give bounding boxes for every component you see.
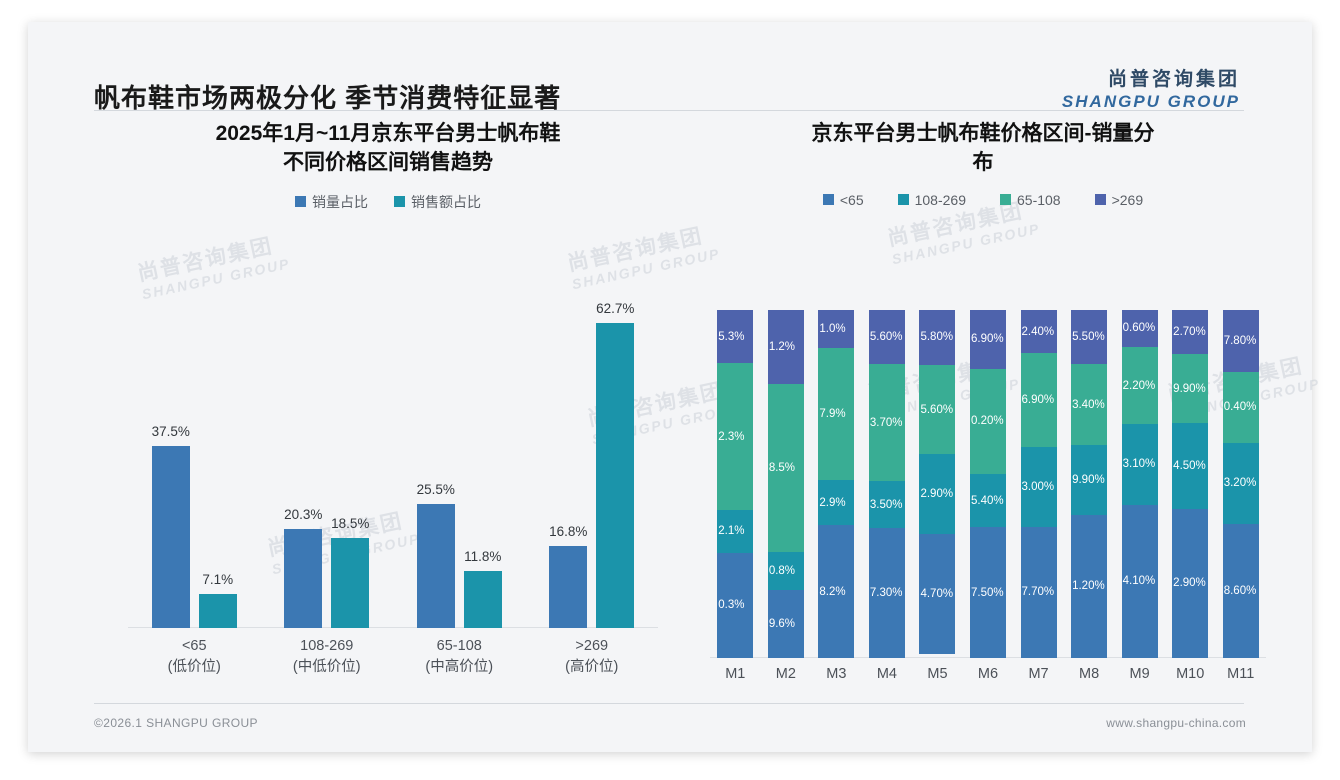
category-tier: (中高价位) — [393, 657, 526, 678]
x-axis-month-label: M11 — [1223, 666, 1259, 682]
segment-value-label: 1.0% — [819, 323, 845, 335]
stack-segment[interactable]: 2.70% — [1172, 310, 1208, 354]
right-chart-title: 京东平台男士帆布鞋价格区间-销量分 布 — [688, 120, 1278, 178]
segment-value-label: 5.3% — [718, 331, 744, 343]
segment-value-label: 2.90% — [1173, 577, 1206, 589]
segment-value-label: 7.9% — [819, 408, 845, 420]
x-axis-month-label: M3 — [818, 666, 854, 682]
legend-swatch-icon — [898, 194, 909, 205]
x-axis-month-label: M2 — [768, 666, 804, 682]
stacked-bar-plot: 5.3%2.3%2.1%0.3%M11.2%8.5%0.8%9.6%M21.0%… — [710, 310, 1266, 658]
segment-value-label: 3.20% — [1224, 477, 1257, 489]
segment-value-label: 1.20% — [1072, 580, 1105, 592]
stacked-column[interactable]: 1.0%7.9%2.9%8.2% — [818, 310, 854, 658]
stack-segment[interactable]: 3.50% — [869, 481, 905, 528]
stack-segment[interactable]: 3.70% — [869, 364, 905, 481]
legend-item-108-269[interactable]: 108-269 — [898, 192, 966, 208]
logo-text-en: SHANGPU GROUP — [1062, 92, 1240, 112]
segment-value-label: 7.70% — [1022, 586, 1055, 598]
chart-panel-right: 京东平台男士帆布鞋价格区间-销量分 布 <65 108-269 65-108 >… — [688, 120, 1278, 700]
legend-swatch-icon — [295, 196, 306, 207]
stack-segment[interactable]: 0.60% — [1122, 310, 1158, 347]
segment-value-label: 0.60% — [1123, 322, 1156, 334]
stacked-column[interactable]: 0.60%2.20%3.10%4.10% — [1122, 310, 1158, 658]
bar-value-label: 7.1% — [202, 572, 233, 587]
segment-value-label: 5.60% — [870, 331, 903, 343]
stack-segment[interactable]: 7.80% — [1223, 310, 1259, 372]
segment-value-label: 5.40% — [971, 495, 1004, 507]
category-range: 108-269 — [261, 636, 394, 657]
bar-value-label: 62.7% — [596, 301, 634, 316]
bar-amount[interactable]: 62.7% — [596, 323, 634, 628]
bar-fill — [152, 446, 190, 628]
stack-segment[interactable]: 4.10% — [1122, 505, 1158, 658]
segment-value-label: 6.90% — [971, 333, 1004, 345]
bar-value-label: 25.5% — [417, 482, 455, 497]
category-tier: (低价位) — [128, 657, 261, 678]
bar-amount[interactable]: 11.8% — [464, 571, 502, 628]
legend-label: 65-108 — [1017, 192, 1061, 208]
stack-segment[interactable]: 3.40% — [1071, 364, 1107, 445]
stack-segment[interactable]: 7.50% — [970, 527, 1006, 658]
legend-swatch-icon — [394, 196, 405, 207]
x-axis-month-label: M7 — [1021, 666, 1057, 682]
legend-item-under-65[interactable]: <65 — [823, 192, 864, 208]
stack-segment[interactable]: 2.3% — [717, 363, 753, 510]
segment-value-label: 3.70% — [870, 417, 903, 429]
stack-segment[interactable]: 5.3% — [717, 310, 753, 363]
stacked-column[interactable]: 5.60%3.70%3.50%7.30% — [869, 310, 905, 658]
category-tier: (高价位) — [526, 657, 659, 678]
stack-segment[interactable]: 4.70% — [919, 534, 955, 655]
x-axis-month-label: M5 — [919, 666, 955, 682]
slide-canvas: 尚普咨询集团 SHANGPU GROUP 尚普咨询集团 SHANGPU GROU… — [28, 22, 1312, 752]
logo-text-cn: 尚普咨询集团 — [1062, 64, 1240, 91]
bar-volume[interactable]: 25.5% — [417, 504, 455, 628]
segment-value-label: 3.10% — [1123, 458, 1156, 470]
bar-fill — [549, 546, 587, 628]
footer-copyright: ©2026.1 SHANGPU GROUP — [94, 716, 258, 730]
left-chart-legend: 销量占比 销售额占比 — [88, 192, 688, 212]
x-axis-month-label: M1 — [717, 666, 753, 682]
segment-value-label: 2.3% — [718, 431, 744, 443]
segment-value-label: 9.90% — [1072, 474, 1105, 486]
category-tier: (中低价位) — [261, 657, 394, 678]
bar-value-label: 18.5% — [331, 516, 369, 531]
bar-group: 25.5%11.8% — [393, 288, 526, 628]
segment-value-label: 0.20% — [971, 415, 1004, 427]
stack-segment[interactable]: 2.40% — [1021, 310, 1057, 353]
x-axis-month-label: M9 — [1122, 666, 1158, 682]
bar-fill — [199, 594, 237, 628]
stack-segment[interactable]: 6.90% — [970, 310, 1006, 369]
stack-segment[interactable]: 3.20% — [1223, 443, 1259, 524]
segment-value-label: 0.40% — [1224, 401, 1257, 413]
bar-value-label: 16.8% — [549, 524, 587, 539]
left-chart-title-line2: 不同价格区间销售趋势 — [112, 149, 664, 178]
bar-group: 37.5%7.1% — [128, 288, 261, 628]
bar-amount[interactable]: 18.5% — [331, 538, 369, 628]
stack-segment[interactable]: 1.2% — [768, 310, 804, 384]
header-divider — [94, 110, 1244, 111]
segment-value-label: 2.1% — [718, 525, 744, 537]
stack-segment[interactable]: 2.90% — [1172, 509, 1208, 658]
stacked-column[interactable]: 2.70%9.90%4.50%2.90% — [1172, 310, 1208, 658]
segment-value-label: 0.3% — [718, 599, 744, 611]
right-chart-title-line1: 京东平台男士帆布鞋价格区间-销量分 — [712, 120, 1254, 149]
bar-volume[interactable]: 20.3% — [284, 529, 322, 628]
stack-segment[interactable]: 8.5% — [768, 384, 804, 553]
stack-segment[interactable]: 4.50% — [1172, 423, 1208, 508]
segment-value-label: 9.90% — [1173, 383, 1206, 395]
stack-segment[interactable]: 5.60% — [919, 365, 955, 454]
x-axis-month-label: M8 — [1071, 666, 1107, 682]
legend-label: 108-269 — [915, 192, 966, 208]
stack-segment[interactable]: 9.90% — [1172, 354, 1208, 423]
stacked-column[interactable]: 7.80%0.40%3.20%8.60% — [1223, 310, 1259, 658]
left-chart-title-line1: 2025年1月~11月京东平台男士帆布鞋 — [112, 120, 664, 149]
bar-volume[interactable]: 37.5% — [152, 446, 190, 628]
legend-item-65-108[interactable]: 65-108 — [1000, 192, 1061, 208]
stack-segment[interactable]: 1.0% — [818, 310, 854, 348]
left-chart-title: 2025年1月~11月京东平台男士帆布鞋 不同价格区间销售趋势 — [88, 120, 688, 178]
segment-value-label: 3.40% — [1072, 399, 1105, 411]
legend-item-over-269[interactable]: >269 — [1095, 192, 1144, 208]
segment-value-label: 7.80% — [1224, 335, 1257, 347]
slide-header: 帆布鞋市场两极分化 季节消费特征显著 尚普咨询集团 SHANGPU GROUP — [28, 22, 1312, 114]
bar-group: 20.3%18.5% — [261, 288, 394, 628]
bar-fill — [284, 529, 322, 628]
segment-value-label: 2.90% — [920, 488, 953, 500]
stack-segment[interactable]: 7.30% — [869, 528, 905, 658]
category-range: >269 — [526, 636, 659, 657]
bar-group: 16.8%62.7% — [526, 288, 659, 628]
segment-value-label: 5.80% — [920, 331, 953, 343]
right-chart-legend: <65 108-269 65-108 >269 — [688, 192, 1278, 208]
segment-value-label: 5.50% — [1072, 331, 1105, 343]
bar-fill — [331, 538, 369, 628]
category-range: 65-108 — [393, 636, 526, 657]
x-axis-category-label: >269(高价位) — [526, 636, 659, 678]
stack-segment[interactable]: 5.50% — [1071, 310, 1107, 364]
x-axis-month-label: M6 — [970, 666, 1006, 682]
bar-value-label: 11.8% — [464, 549, 501, 564]
x-axis-category-label: 65-108(中高价位) — [393, 636, 526, 678]
stacked-column[interactable]: 1.2%8.5%0.8%9.6% — [768, 310, 804, 658]
legend-swatch-icon — [1000, 194, 1011, 205]
segment-value-label: 2.9% — [819, 497, 845, 509]
stack-segment[interactable]: 1.20% — [1071, 515, 1107, 658]
segment-value-label: 8.2% — [819, 586, 845, 598]
stack-segment[interactable]: 2.1% — [717, 510, 753, 552]
bar-value-label: 37.5% — [152, 424, 190, 439]
segment-value-label: 2.20% — [1123, 380, 1156, 392]
stacked-column[interactable]: 5.80%5.60%2.90%4.70% — [919, 310, 955, 658]
segment-value-label: 8.60% — [1224, 585, 1257, 597]
segment-value-label: 0.8% — [769, 565, 795, 577]
stacked-column[interactable]: 5.3%2.3%2.1%0.3% — [717, 310, 753, 658]
stack-segment[interactable]: 2.20% — [1122, 347, 1158, 424]
segment-value-label: 5.60% — [920, 404, 953, 416]
grouped-bar-plot: 37.5%7.1%<65(低价位)20.3%18.5%108-269(中低价位)… — [128, 288, 658, 628]
bar-fill — [464, 571, 502, 628]
legend-item-sales-amount[interactable]: 销售额占比 — [394, 192, 481, 212]
right-chart-title-line2: 布 — [712, 149, 1254, 178]
stack-segment[interactable]: 0.20% — [970, 369, 1006, 474]
stack-segment[interactable]: 7.9% — [818, 348, 854, 480]
segment-value-label: 7.30% — [870, 587, 903, 599]
stack-segment[interactable]: 5.60% — [869, 310, 905, 364]
segment-value-label: 4.50% — [1173, 460, 1206, 472]
stack-segment[interactable]: 6.90% — [1021, 353, 1057, 447]
legend-label: 销量占比 — [312, 192, 368, 212]
footer-divider — [94, 703, 1244, 704]
bar-amount[interactable]: 7.1% — [199, 594, 237, 628]
x-axis-category-label: 108-269(中低价位) — [261, 636, 394, 678]
segment-value-label: 2.40% — [1022, 326, 1055, 338]
x-axis-category-label: <65(低价位) — [128, 636, 261, 678]
bar-value-label: 20.3% — [284, 507, 322, 522]
legend-swatch-icon — [1095, 194, 1106, 205]
segment-value-label: 3.50% — [870, 499, 903, 511]
stack-segment[interactable]: 9.6% — [768, 590, 804, 658]
stacked-column[interactable]: 6.90%0.20%5.40%7.50% — [970, 310, 1006, 658]
stack-segment[interactable]: 0.8% — [768, 552, 804, 590]
footer-website: www.shangpu-china.com — [1106, 716, 1246, 730]
x-axis-month-label: M4 — [869, 666, 905, 682]
bar-fill — [596, 323, 634, 628]
stacked-column[interactable]: 2.40%6.90%3.00%7.70% — [1021, 310, 1057, 658]
legend-swatch-icon — [823, 194, 834, 205]
segment-value-label: 3.00% — [1022, 481, 1055, 493]
stacked-column[interactable]: 5.50%3.40%9.90%1.20% — [1071, 310, 1107, 658]
segment-value-label: 7.50% — [971, 587, 1004, 599]
segment-value-label: 1.2% — [769, 341, 795, 353]
stack-segment[interactable]: 8.60% — [1223, 524, 1259, 658]
segment-value-label: 2.70% — [1173, 326, 1206, 338]
stack-segment[interactable]: 0.40% — [1223, 372, 1259, 443]
stack-segment[interactable]: 9.90% — [1071, 445, 1107, 514]
segment-value-label: 4.70% — [920, 588, 953, 600]
stack-segment[interactable]: 2.9% — [818, 480, 854, 525]
brand-logo: 尚普咨询集团 SHANGPU GROUP — [1062, 64, 1240, 112]
legend-item-sales-volume[interactable]: 销量占比 — [295, 192, 368, 212]
bar-fill — [417, 504, 455, 628]
segment-value-label: 8.5% — [769, 462, 795, 474]
segment-value-label: 4.10% — [1123, 575, 1156, 587]
segment-value-label: 9.6% — [769, 618, 795, 630]
x-axis-month-label: M10 — [1172, 666, 1208, 682]
legend-label: >269 — [1112, 192, 1144, 208]
stack-segment[interactable]: 5.40% — [970, 474, 1006, 528]
chart-panel-left: 2025年1月~11月京东平台男士帆布鞋 不同价格区间销售趋势 销量占比 销售额… — [88, 120, 688, 700]
stack-segment[interactable]: 0.3% — [717, 553, 753, 658]
segment-value-label: 6.90% — [1022, 394, 1055, 406]
category-range: <65 — [128, 636, 261, 657]
stack-segment[interactable]: 2.90% — [919, 454, 955, 534]
stack-segment[interactable]: 7.70% — [1021, 527, 1057, 658]
stack-segment[interactable]: 3.10% — [1122, 424, 1158, 504]
bar-volume[interactable]: 16.8% — [549, 546, 587, 628]
stack-segment[interactable]: 5.80% — [919, 310, 955, 365]
legend-label: <65 — [840, 192, 864, 208]
stack-segment[interactable]: 3.00% — [1021, 447, 1057, 527]
stack-segment[interactable]: 8.2% — [818, 525, 854, 658]
legend-label: 销售额占比 — [411, 192, 481, 212]
